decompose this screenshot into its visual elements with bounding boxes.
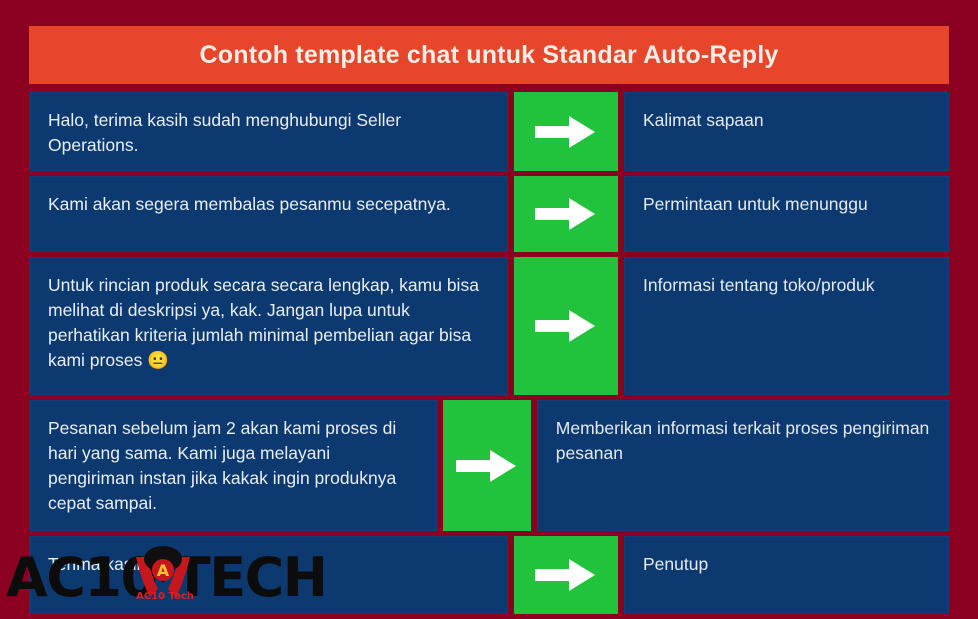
category-label-cell: Kalimat sapaan xyxy=(624,92,949,171)
arrow-cell xyxy=(443,400,530,531)
arrow-right-icon xyxy=(456,448,518,484)
chat-message-cell: Kami akan segera membalas pesanmu secepa… xyxy=(29,176,508,252)
slide-canvas: Contoh template chat untuk Standar Auto-… xyxy=(0,0,978,615)
chat-message-text: Untuk rincian produk secara secara lengk… xyxy=(48,273,489,372)
arrow-cell xyxy=(514,92,618,171)
chat-message-cell: Halo, terima kasih sudah menghubungi Sel… xyxy=(29,92,508,171)
category-label-cell: Informasi tentang toko/produk xyxy=(624,257,949,395)
chat-message-text: Pesanan sebelum jam 2 akan kami proses d… xyxy=(48,416,418,515)
category-label-text: Informasi tentang toko/produk xyxy=(643,273,930,298)
arrow-right-icon xyxy=(535,557,597,593)
chat-message-text: Terima kasih 🙏 xyxy=(48,552,489,577)
category-label-cell: Penutup xyxy=(624,536,949,614)
category-label-text: Kalimat sapaan xyxy=(643,108,930,133)
table-row: Halo, terima kasih sudah menghubungi Sel… xyxy=(29,92,949,171)
chat-message-cell: Pesanan sebelum jam 2 akan kami proses d… xyxy=(29,400,437,531)
arrow-cell xyxy=(514,536,618,614)
table-row: Terima kasih 🙏 Penutup xyxy=(29,536,949,614)
category-label-text: Permintaan untuk menunggu xyxy=(643,192,930,217)
table-row: Kami akan segera membalas pesanmu secepa… xyxy=(29,176,949,252)
arrow-cell xyxy=(514,176,618,252)
table-row: Untuk rincian produk secara secara lengk… xyxy=(29,257,949,395)
chat-message-text: Halo, terima kasih sudah menghubungi Sel… xyxy=(48,108,489,158)
category-label-text: Memberikan informasi terkait proses peng… xyxy=(556,416,930,466)
header-banner: Contoh template chat untuk Standar Auto-… xyxy=(29,26,949,84)
chat-template-table: Halo, terima kasih sudah menghubungi Sel… xyxy=(29,92,949,614)
page-title: Contoh template chat untuk Standar Auto-… xyxy=(200,41,779,70)
arrow-right-icon xyxy=(535,114,597,150)
chat-message-cell: Untuk rincian produk secara secara lengk… xyxy=(29,257,508,395)
arrow-right-icon xyxy=(535,308,597,344)
table-row: Pesanan sebelum jam 2 akan kami proses d… xyxy=(29,400,949,531)
chat-message-text: Kami akan segera membalas pesanmu secepa… xyxy=(48,192,489,217)
arrow-right-icon xyxy=(535,196,597,232)
chat-message-cell: Terima kasih 🙏 xyxy=(29,536,508,614)
category-label-cell: Memberikan informasi terkait proses peng… xyxy=(537,400,949,531)
category-label-text: Penutup xyxy=(643,552,930,577)
category-label-cell: Permintaan untuk menunggu xyxy=(624,176,949,252)
arrow-cell xyxy=(514,257,618,395)
